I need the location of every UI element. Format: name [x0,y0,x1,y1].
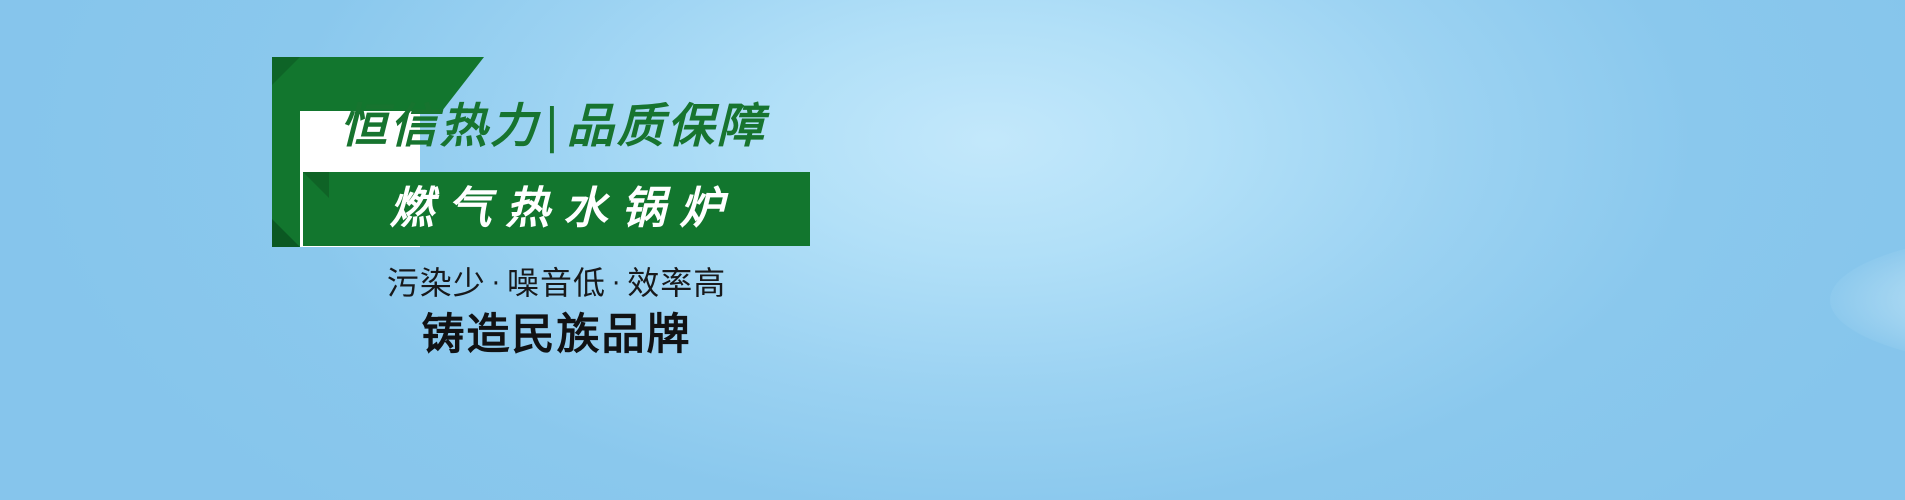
feature-list: 污染少·噪音低·效率高 [303,258,810,304]
feature-separator-2: · [606,269,627,299]
product-name-text: 燃气热水锅炉 [303,172,810,246]
headline: 恒信热力|品质保障 [340,96,860,158]
product-photo: 河南省恒信锅炉制造有限公司 HENAN HENGXIN BOILER MANUF… [905,0,1905,500]
tagline: 铸造民族品牌 [303,300,810,362]
headline-brand: 恒信热力 [340,99,540,154]
product-ground-shadow [1830,230,1905,370]
feature-item-2: 噪音低 [507,264,606,302]
headline-promise: 品质保障 [567,99,767,154]
feature-item-1: 污染少 [387,264,486,302]
promo-banner: 恒信热力|品质保障 燃气热水锅炉 污染少·噪音低·效率高 铸造民族品牌 [0,0,1905,500]
headline-separator: | [540,99,567,154]
banner-text-block: 恒信热力|品质保障 燃气热水锅炉 污染少·噪音低·效率高 铸造民族品牌 [0,0,900,500]
feature-item-3: 效率高 [627,264,726,302]
bracket-bevel-top [272,57,300,85]
bracket-bevel-bottom [272,219,300,247]
feature-separator-1: · [486,269,507,299]
